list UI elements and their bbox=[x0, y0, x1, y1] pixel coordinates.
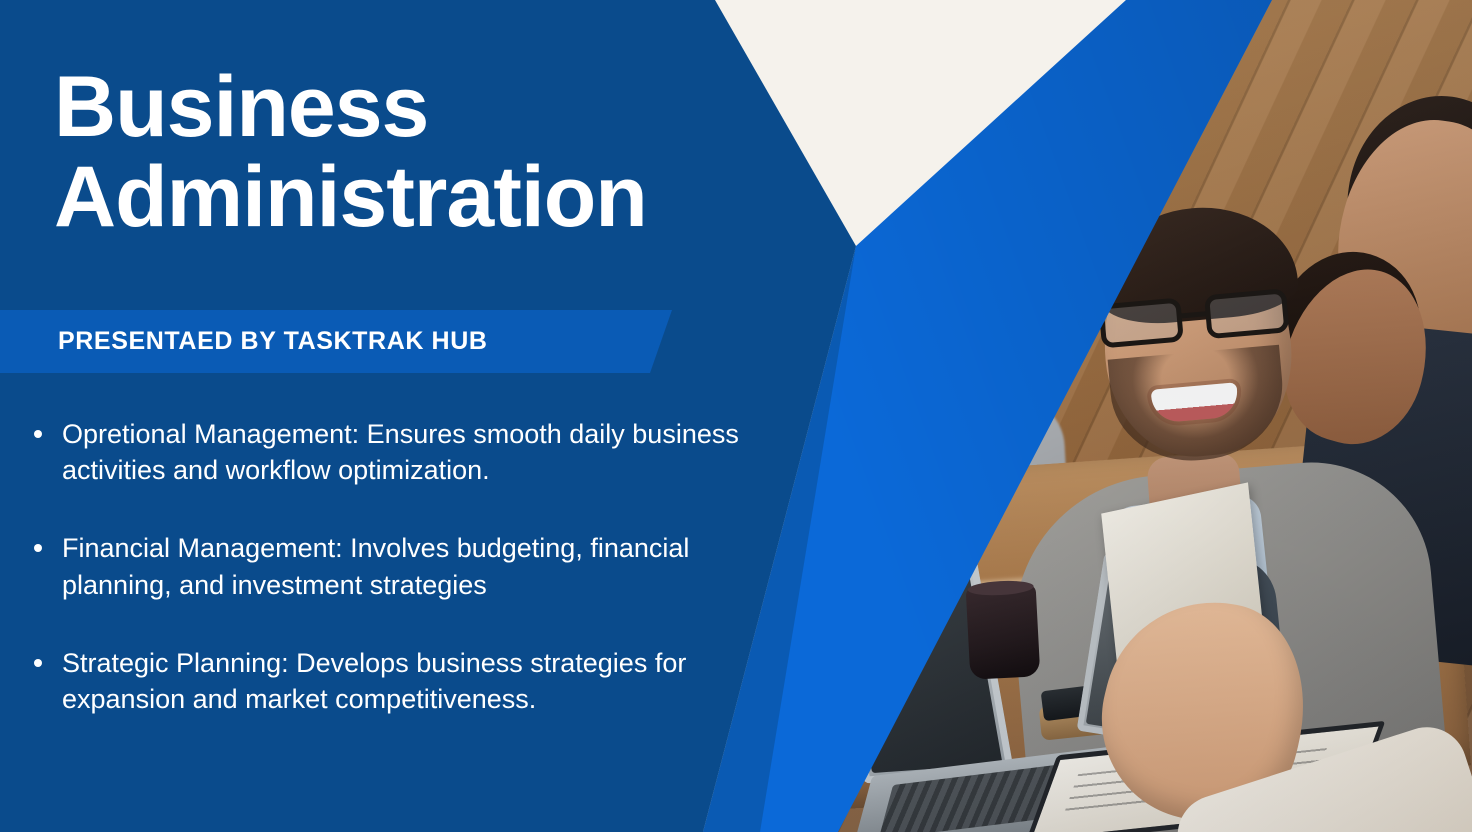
list-item: Financial Management: Involves budgeting… bbox=[26, 530, 746, 602]
list-item: Opretional Management: Ensures smooth da… bbox=[26, 416, 746, 488]
presenter-banner: PRESENTAED BY TASKTRAK HUB bbox=[0, 310, 672, 373]
list-item-text: Strategic Planning: Develops business st… bbox=[62, 648, 686, 714]
bullet-dot-icon bbox=[34, 659, 42, 667]
bullet-dot-icon bbox=[34, 544, 42, 552]
list-item-text: Financial Management: Involves budgeting… bbox=[62, 533, 689, 599]
presentation-slide: Business Administration PRESENTAED BY TA… bbox=[0, 0, 1472, 832]
list-item-text: Opretional Management: Ensures smooth da… bbox=[62, 419, 739, 485]
list-item: Strategic Planning: Develops business st… bbox=[26, 645, 746, 717]
presenter-banner-label: PRESENTAED BY TASKTRAK HUB bbox=[58, 327, 488, 356]
bullet-list: Opretional Management: Ensures smooth da… bbox=[26, 416, 746, 717]
bullet-dot-icon bbox=[34, 430, 42, 438]
page-title: Business Administration bbox=[54, 62, 754, 243]
